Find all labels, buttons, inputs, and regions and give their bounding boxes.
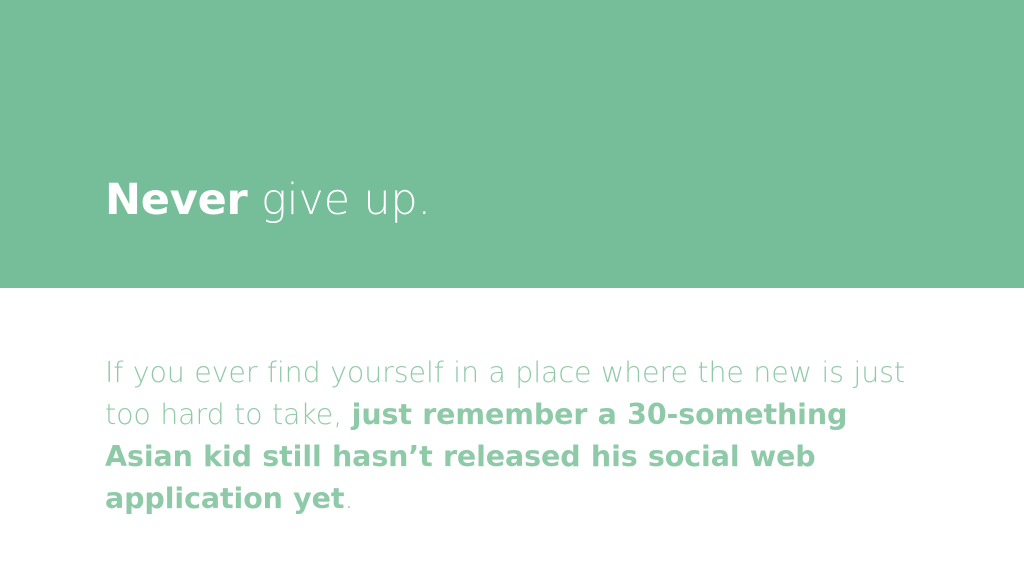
page-title-remainder: give up. bbox=[248, 175, 431, 225]
body-text-tail: . bbox=[344, 482, 353, 515]
page-title-emphasis: Never bbox=[105, 175, 248, 225]
body-paragraph: If you ever find yourself in a place whe… bbox=[105, 352, 917, 520]
page-title: Never give up. bbox=[105, 174, 431, 226]
presentation-slide: Never give up. If you ever find yourself… bbox=[0, 0, 1024, 576]
slide-body: If you ever find yourself in a place whe… bbox=[105, 352, 917, 520]
slide-header-band: Never give up. bbox=[0, 0, 1024, 288]
